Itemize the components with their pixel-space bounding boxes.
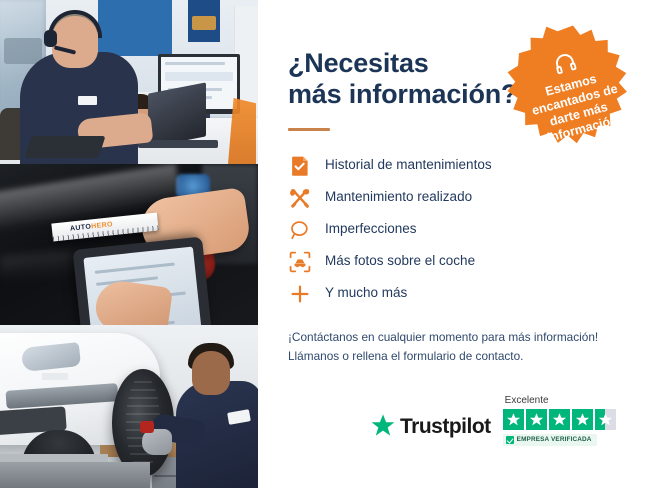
feature-item-maintenance-done: Mantenimiento realizado <box>288 182 624 214</box>
star-icon <box>506 412 521 427</box>
page-title-line-1: ¿Necesitas <box>288 48 429 78</box>
feature-label: Y mucho más <box>325 286 407 301</box>
feature-list: Historial de mantenimientos M <box>288 150 624 310</box>
verified-business-badge: EMPRESA VERIFICADA <box>503 434 597 446</box>
feature-label: Historial de mantenimientos <box>325 158 492 173</box>
star-icon <box>529 412 544 427</box>
ruler-brand-auto: AUTO <box>70 223 92 232</box>
star-tile-filled <box>503 409 524 430</box>
car-scan-icon <box>288 250 312 274</box>
check-box-icon <box>506 436 514 444</box>
information-promo-panel: AUTOHERO <box>0 0 650 488</box>
tyre-check-photo <box>0 325 258 488</box>
ruler-brand-hero: HERO <box>91 221 113 230</box>
star-tile-filled <box>526 409 547 430</box>
page-title-line-2: más información? <box>288 79 517 109</box>
hand-tool <box>140 421 154 433</box>
blue-wall <box>98 0 172 56</box>
monitor-ui-band <box>165 72 233 81</box>
feature-item-much-more: Y mucho más <box>288 278 624 310</box>
technician-head <box>192 351 230 395</box>
title-divider <box>288 128 330 131</box>
star-tile-filled <box>572 409 593 430</box>
contact-blurb-line-2: Llámanos o rellena el formulario de cont… <box>288 347 624 366</box>
star-rating <box>503 409 616 430</box>
verified-business-label: EMPRESA VERIFICADA <box>517 437 592 443</box>
feature-label: Mantenimiento realizado <box>325 190 472 205</box>
trustpilot-wordmark: Trustpilot <box>400 416 491 437</box>
content-column: ¿Necesitas más información? Historial de… <box>258 0 650 488</box>
star-icon <box>552 412 567 427</box>
feature-label: Más fotos sobre el coche <box>325 254 475 269</box>
lift-platform-upper <box>0 454 108 462</box>
support-badge: Estamos encantados de darte más informac… <box>502 22 644 164</box>
tablet-ui-line <box>95 263 175 274</box>
call-centre-photo <box>0 0 258 164</box>
photo-column: AUTOHERO <box>0 0 258 488</box>
star-tile-half <box>595 409 616 430</box>
rating-label: Excelente <box>505 396 549 406</box>
car-badge <box>42 373 68 380</box>
wrench-screwdriver-icon <box>288 186 312 210</box>
contact-blurb: ¡Contáctanos en cualquier momento para m… <box>288 328 624 366</box>
lift-platform <box>0 462 150 488</box>
trustpilot-block[interactable]: Trustpilot Excelente <box>370 396 616 446</box>
magnifier-icon <box>288 218 312 242</box>
feature-item-imperfections: Imperfecciones <box>288 214 624 246</box>
star-icon <box>575 412 590 427</box>
wall-poster-accent <box>192 16 216 30</box>
star-icon <box>598 412 613 427</box>
headset-earcup <box>44 30 57 47</box>
trustpilot-rating: Excelente <box>503 396 616 446</box>
plus-icon <box>288 282 312 306</box>
inspection-ruler-photo: AUTOHERO <box>0 164 258 325</box>
laptop-screen <box>148 82 206 147</box>
feature-label: Imperfecciones <box>325 222 417 237</box>
star-tile-filled <box>549 409 570 430</box>
trustpilot-star-icon <box>370 413 396 439</box>
contact-blurb-line-1: ¡Contáctanos en cualquier momento para m… <box>288 328 624 347</box>
monitor-ui-line <box>165 62 225 65</box>
agent-name-badge <box>78 96 97 105</box>
badge-text: Estamos encantados de darte más informac… <box>519 65 635 149</box>
desk-tablet <box>24 136 105 158</box>
feature-item-more-photos: Más fotos sobre el coche <box>288 246 624 278</box>
clipboard-check-icon <box>288 154 312 178</box>
trustpilot-logo[interactable]: Trustpilot <box>370 413 491 446</box>
